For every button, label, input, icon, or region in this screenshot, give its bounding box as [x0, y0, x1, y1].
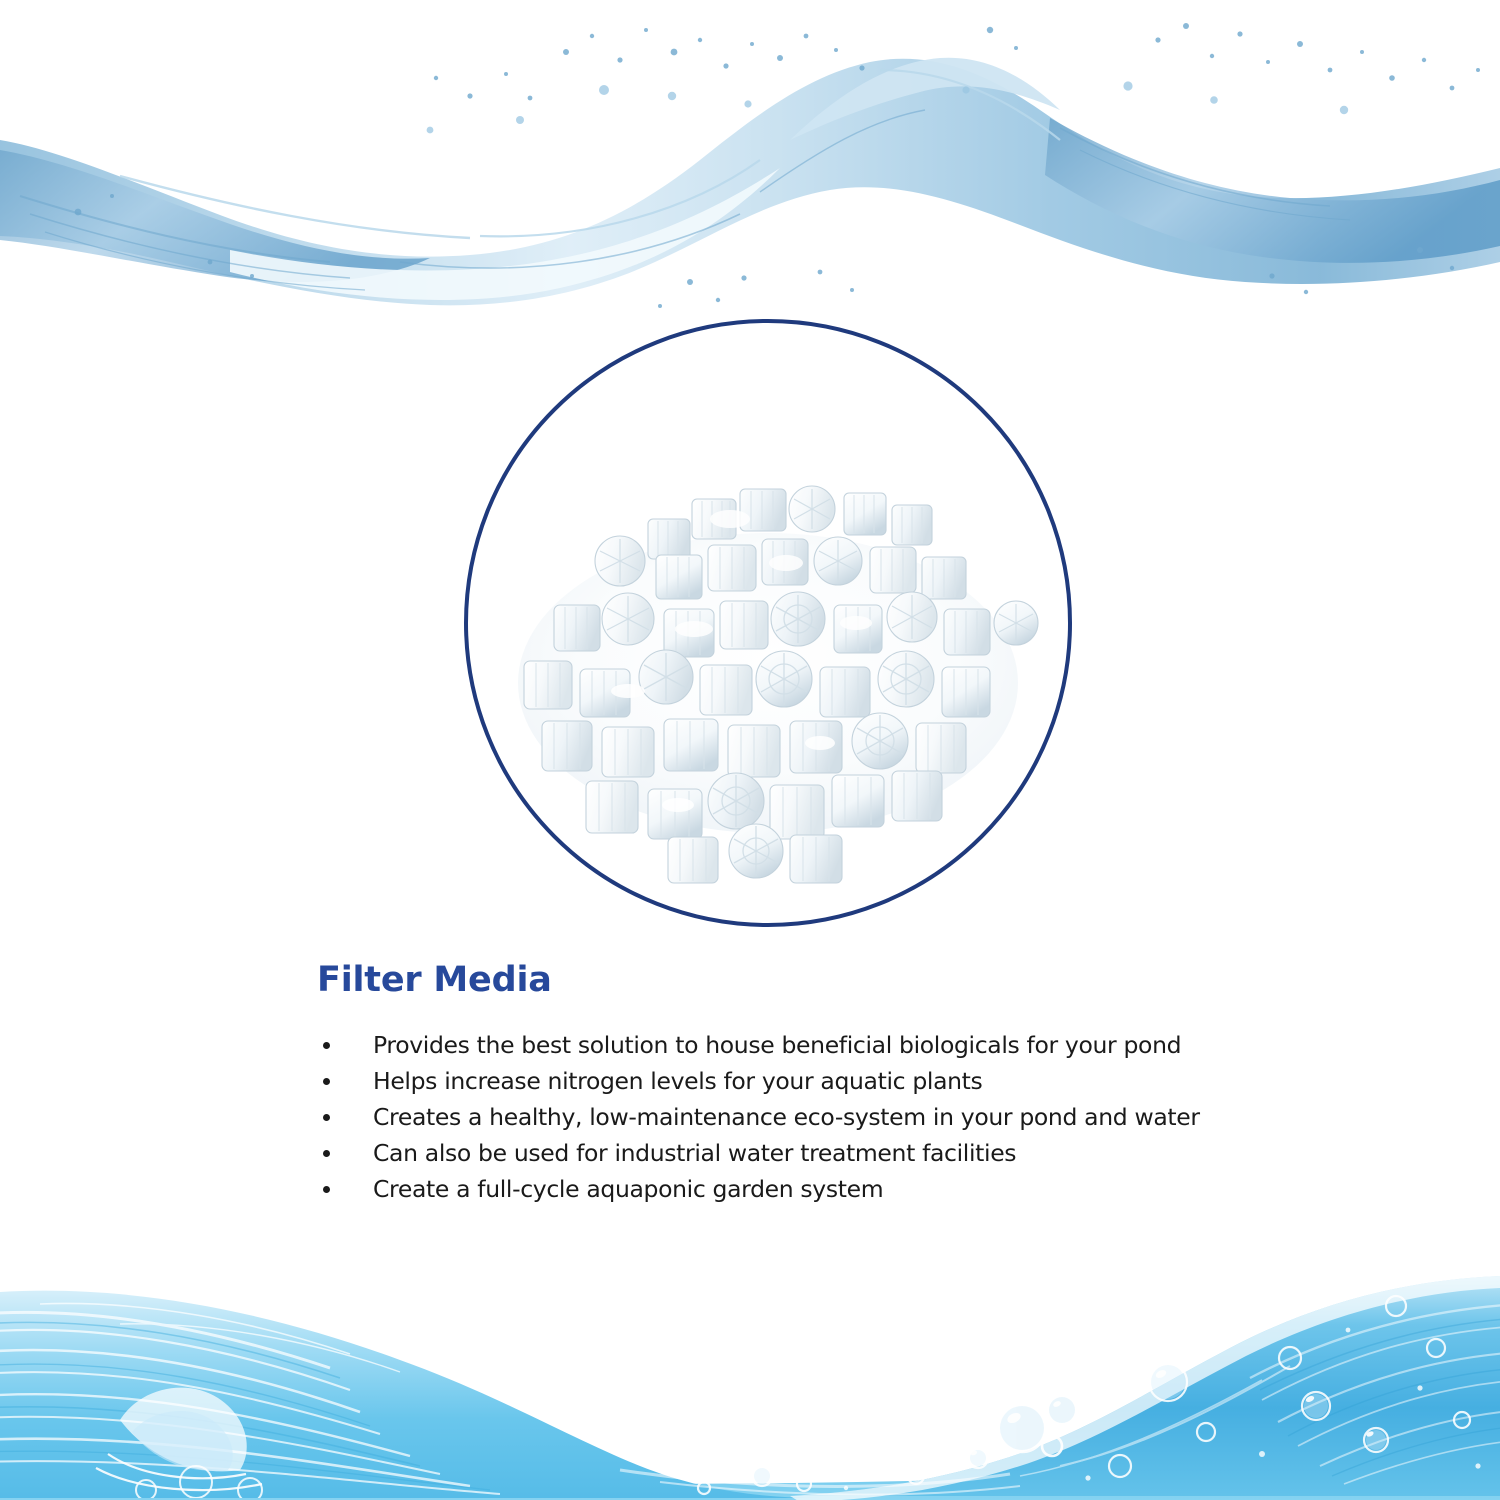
- bottom-water-graphic: [0, 1270, 1500, 1500]
- bullet-icon: [323, 1078, 330, 1085]
- bullet-icon: [323, 1114, 330, 1121]
- bullet-icon: [323, 1150, 330, 1157]
- list-item: Helps increase nitrogen levels for your …: [317, 1063, 1217, 1099]
- feature-text: Create a full-cycle aquaponic garden sys…: [373, 1175, 883, 1203]
- bullet-icon: [323, 1042, 330, 1049]
- feature-text: Provides the best solution to house bene…: [373, 1031, 1181, 1059]
- filter-media-pile-image: [468, 323, 1072, 927]
- filter-media-illustration: [468, 323, 1072, 927]
- list-item: Provides the best solution to house bene…: [317, 1027, 1217, 1063]
- water-splash-illustration: [0, 0, 1500, 330]
- list-item: Can also be used for industrial water tr…: [317, 1135, 1217, 1171]
- feature-text: Can also be used for industrial water tr…: [373, 1139, 1016, 1167]
- product-image-circle: [464, 319, 1072, 927]
- list-item: Creates a healthy, low-maintenance eco-s…: [317, 1099, 1217, 1135]
- list-item: Create a full-cycle aquaponic garden sys…: [317, 1171, 1217, 1207]
- feature-text: Helps increase nitrogen levels for your …: [373, 1067, 982, 1095]
- feature-list: Provides the best solution to house bene…: [317, 1027, 1217, 1207]
- product-description-block: Filter Media Provides the best solution …: [317, 962, 1217, 1207]
- water-surface-illustration: [0, 1270, 1500, 1500]
- page-title: Filter Media: [317, 962, 1217, 999]
- top-water-splash-graphic: [0, 0, 1500, 330]
- feature-text: Creates a healthy, low-maintenance eco-s…: [373, 1103, 1200, 1131]
- bullet-icon: [323, 1186, 330, 1193]
